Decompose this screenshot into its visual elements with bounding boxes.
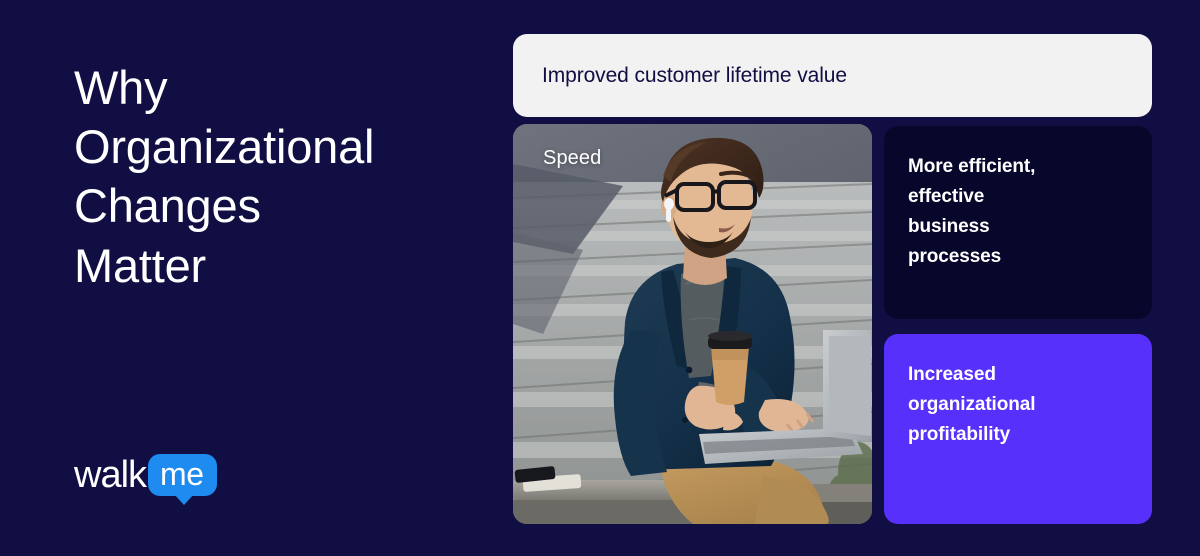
benefit-card-lifetime-value[interactable]: Improved customer lifetime value (513, 34, 1152, 117)
benefit-card-processes[interactable]: More efficient, effective business proce… (884, 126, 1152, 319)
logo-wordmark-walk: walk (74, 456, 146, 494)
benefit-card-processes-label: More efficient, effective business proce… (908, 152, 1128, 272)
benefit-card-profitability-label: Increased organizational profitability (908, 360, 1128, 450)
photo-illustration (513, 124, 872, 524)
slide-canvas: Why Organizational Changes Matter walk m… (0, 0, 1200, 556)
benefit-card-profitability[interactable]: Increased organizational profitability (884, 334, 1152, 524)
walkme-logo[interactable]: walk me (74, 452, 217, 498)
benefit-card-lifetime-value-label: Improved customer lifetime value (542, 64, 847, 88)
hero-photo: Speed (513, 124, 872, 524)
page-title: Why Organizational Changes Matter (74, 58, 474, 295)
logo-wordmark-me: me (160, 458, 203, 492)
speech-bubble-icon: me (148, 454, 217, 497)
photo-overlay-label: Speed (543, 147, 601, 170)
